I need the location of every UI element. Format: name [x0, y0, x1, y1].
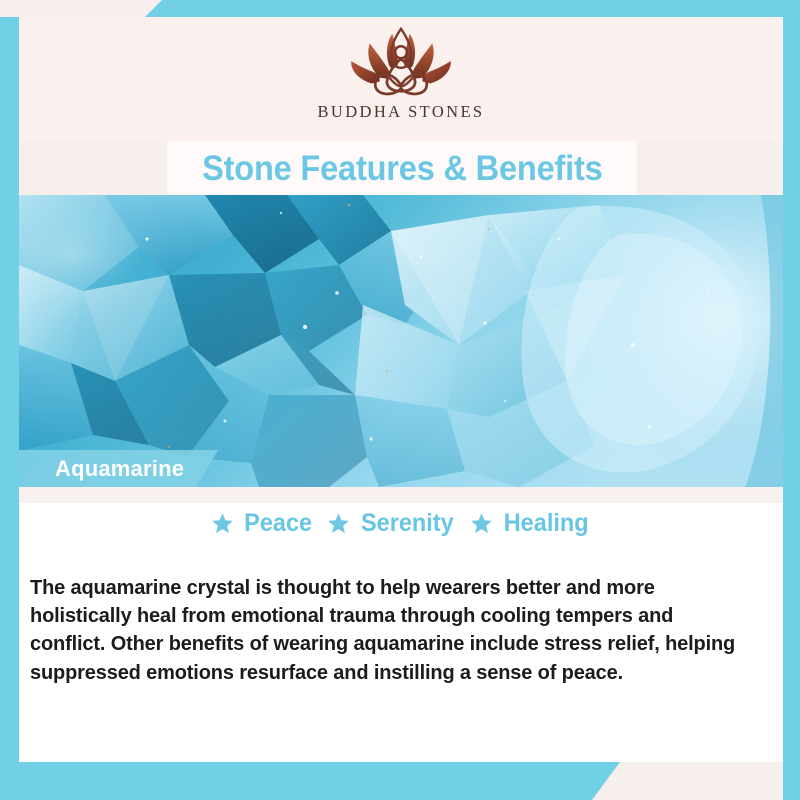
frame-left-accent-bar — [0, 17, 19, 800]
lotus-meditation-figure-icon — [342, 23, 460, 101]
content-top-strip — [19, 487, 783, 503]
infographic-card: BUDDHA STONES Stone Features & Benefits — [0, 0, 800, 800]
benefit-keywords-row: Peace Serenity Healing — [19, 511, 783, 536]
stone-name-banner: Aquamarine — [19, 450, 218, 487]
page-title-band: Stone Features & Benefits — [167, 141, 637, 195]
keyword-label: Healing — [504, 511, 589, 536]
keyword-label: Serenity — [361, 511, 454, 536]
star-icon — [211, 512, 234, 535]
stone-name-label: Aquamarine — [55, 456, 184, 482]
page-title: Stone Features & Benefits — [202, 151, 603, 186]
keyword-label: Peace — [244, 511, 312, 536]
star-icon — [470, 512, 493, 535]
brand-wordmark: BUDDHA STONES — [317, 102, 484, 122]
frame-bottom-accent-bar — [0, 762, 620, 800]
frame-right-accent-bar — [783, 0, 800, 800]
keyword-healing: Healing — [470, 511, 591, 536]
keyword-serenity: Serenity — [327, 511, 457, 536]
brand-header: BUDDHA STONES — [19, 17, 783, 141]
keyword-peace: Peace — [211, 511, 314, 536]
content-panel: Peace Serenity Healing The aquamarine cr… — [19, 487, 783, 762]
stone-description: The aquamarine crystal is thought to hel… — [30, 574, 753, 688]
frame-top-accent-bar — [145, 0, 800, 17]
star-icon — [327, 512, 350, 535]
aquamarine-crystal-photo — [19, 195, 783, 487]
